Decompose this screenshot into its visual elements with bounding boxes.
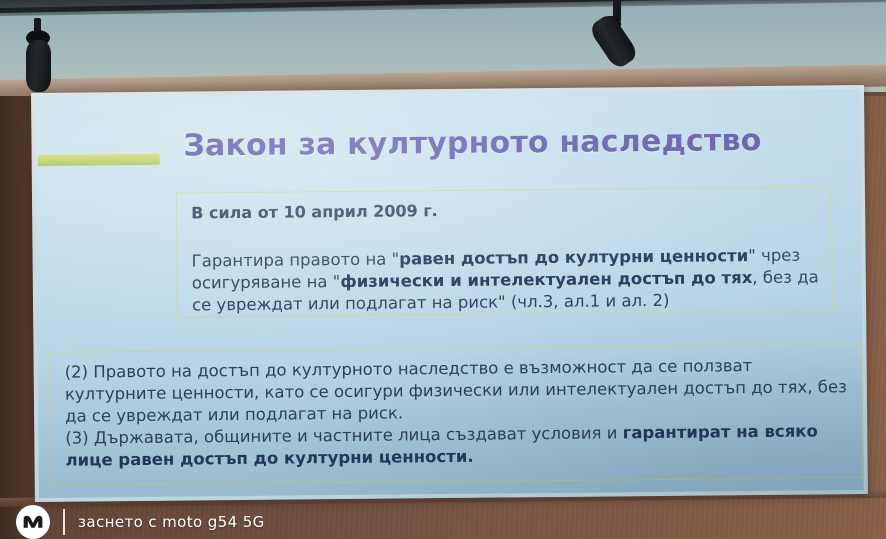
- photograph-of-projected-slide: Закон за културното наследство В сила от…: [0, 0, 886, 539]
- guarantee-bold-equal-access: равен достъп до културни ценности: [399, 246, 748, 268]
- track-light-left-body: [26, 40, 51, 92]
- guarantee-text-part1: Гарантира правото на ": [192, 249, 400, 270]
- track-light-left-icon: [18, 18, 78, 94]
- effective-date-line: В сила от 10 април 2009 г.: [191, 197, 819, 222]
- screen-frame: Закон за културното наследство В сила от…: [31, 85, 868, 502]
- guarantee-bold-physical-intellectual-access: физически и интелектуален достъп до тях: [340, 268, 752, 291]
- projection-screen: Закон за културното наследство В сила от…: [31, 85, 868, 502]
- title-accent-bar: [38, 154, 160, 166]
- watermark-divider: [63, 509, 65, 535]
- slide-title: Закон за културното наследство: [183, 123, 761, 164]
- track-light-right-body: [588, 12, 640, 71]
- motorola-batwing-icon: [16, 505, 50, 539]
- guarantee-paragraph: Гарантира правото на "равен достъп до ку…: [192, 244, 821, 316]
- article-3-text-regular: (3) Държавата, общините и частните лица …: [65, 424, 623, 448]
- watermark-text: заснето с moto g54 5G: [78, 513, 265, 531]
- article-2-paragraph: (2) Правото на достъп до културното насл…: [65, 354, 852, 428]
- camera-watermark: заснето с moto g54 5G: [16, 505, 265, 539]
- effective-date-box: В сила от 10 април 2009 г. Гарантира пра…: [176, 186, 833, 317]
- article-3-paragraph: (3) Държавата, общините и частните лица …: [65, 420, 851, 472]
- presentation-slide: Закон за културното наследство В сила от…: [35, 89, 864, 498]
- articles-box: (2) Правото на достъп до културното насл…: [49, 344, 862, 486]
- track-light-right-icon: [575, 0, 665, 72]
